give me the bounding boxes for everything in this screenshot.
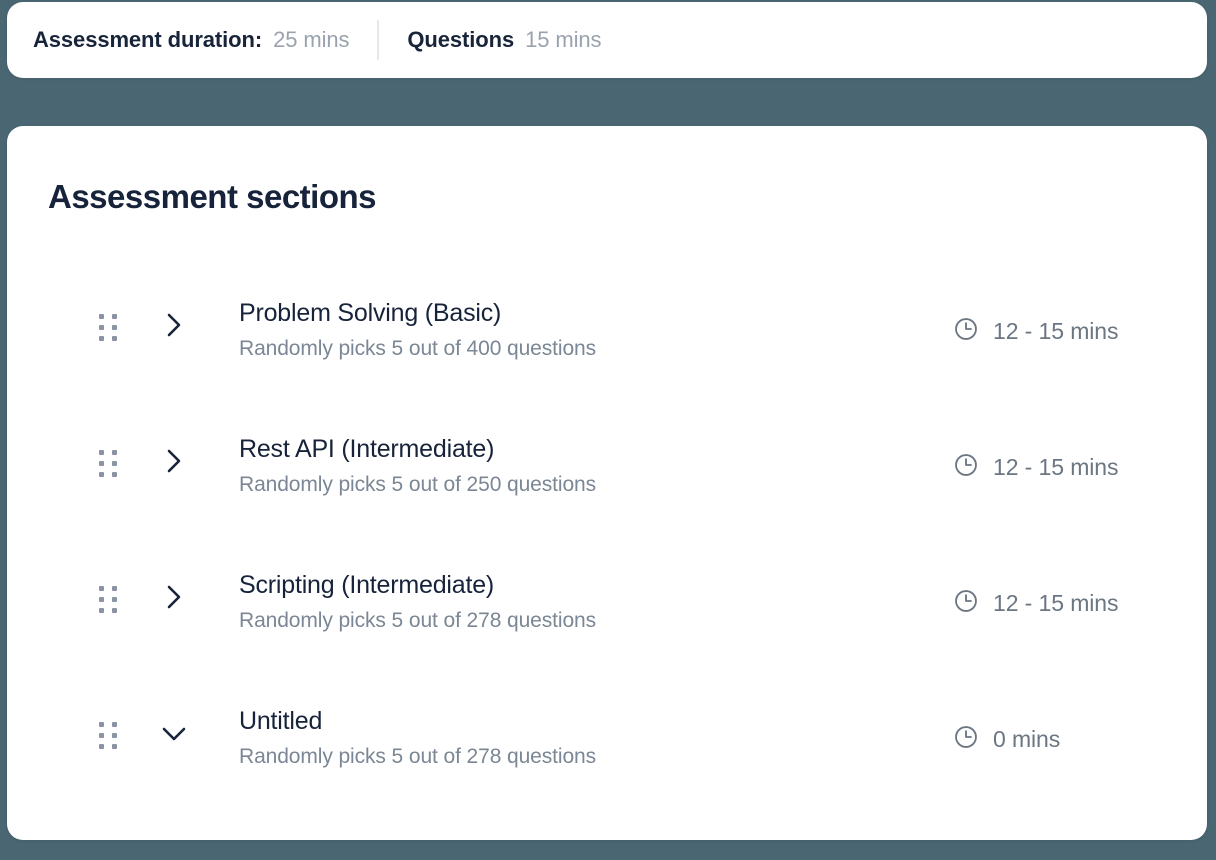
section-duration-text: 12 - 15 mins <box>993 318 1118 345</box>
section-duration: 12 - 15 mins <box>953 588 1118 619</box>
page-title: Assessment sections <box>48 178 376 216</box>
assessment-summary-bar: Assessment duration: 25 mins Questions 1… <box>7 2 1207 78</box>
section-duration: 12 - 15 mins <box>953 452 1118 483</box>
questions-value: 15 mins <box>525 27 601 53</box>
list-item[interactable]: Scripting (Intermediate) Randomly picks … <box>7 554 1207 690</box>
questions-group: Questions 15 mins <box>407 27 601 53</box>
section-subtitle: Randomly picks 5 out of 250 questions <box>239 472 596 498</box>
section-text: Rest API (Intermediate) Randomly picks 5… <box>239 434 596 498</box>
section-title: Rest API (Intermediate) <box>239 434 596 464</box>
section-duration-text: 0 mins <box>993 726 1060 753</box>
drag-handle-icon[interactable] <box>99 722 115 750</box>
clock-icon <box>953 588 979 619</box>
section-title: Problem Solving (Basic) <box>239 298 596 328</box>
section-title: Untitled <box>239 706 596 736</box>
assessment-duration-label: Assessment duration: <box>33 27 262 53</box>
section-duration-text: 12 - 15 mins <box>993 454 1118 481</box>
list-item[interactable]: Problem Solving (Basic) Randomly picks 5… <box>7 282 1207 418</box>
section-text: Untitled Randomly picks 5 out of 278 que… <box>239 706 596 770</box>
section-title: Scripting (Intermediate) <box>239 570 596 600</box>
assessment-duration-group: Assessment duration: 25 mins <box>33 27 349 53</box>
sections-list: Problem Solving (Basic) Randomly picks 5… <box>7 282 1207 826</box>
clock-icon <box>953 316 979 347</box>
section-subtitle: Randomly picks 5 out of 278 questions <box>239 744 596 770</box>
summary-divider <box>377 20 379 60</box>
app-screen: Assessment duration: 25 mins Questions 1… <box>0 0 1216 860</box>
drag-handle-icon[interactable] <box>99 586 115 614</box>
questions-label: Questions <box>407 27 514 53</box>
section-duration-text: 12 - 15 mins <box>993 590 1118 617</box>
section-subtitle: Randomly picks 5 out of 278 questions <box>239 608 596 634</box>
list-item[interactable]: Untitled Randomly picks 5 out of 278 que… <box>7 690 1207 826</box>
clock-icon <box>953 452 979 483</box>
chevron-down-icon[interactable] <box>159 718 189 748</box>
drag-handle-icon[interactable] <box>99 314 115 342</box>
section-duration: 0 mins <box>953 724 1060 755</box>
assessment-duration-value: 25 mins <box>273 27 349 53</box>
section-text: Scripting (Intermediate) Randomly picks … <box>239 570 596 634</box>
drag-handle-icon[interactable] <box>99 450 115 478</box>
section-text: Problem Solving (Basic) Randomly picks 5… <box>239 298 596 362</box>
section-subtitle: Randomly picks 5 out of 400 questions <box>239 336 596 362</box>
chevron-right-icon[interactable] <box>159 446 189 476</box>
list-item[interactable]: Rest API (Intermediate) Randomly picks 5… <box>7 418 1207 554</box>
assessment-sections-card: Assessment sections Problem Solving (Bas… <box>7 126 1207 840</box>
chevron-right-icon[interactable] <box>159 310 189 340</box>
clock-icon <box>953 724 979 755</box>
chevron-right-icon[interactable] <box>159 582 189 612</box>
section-duration: 12 - 15 mins <box>953 316 1118 347</box>
